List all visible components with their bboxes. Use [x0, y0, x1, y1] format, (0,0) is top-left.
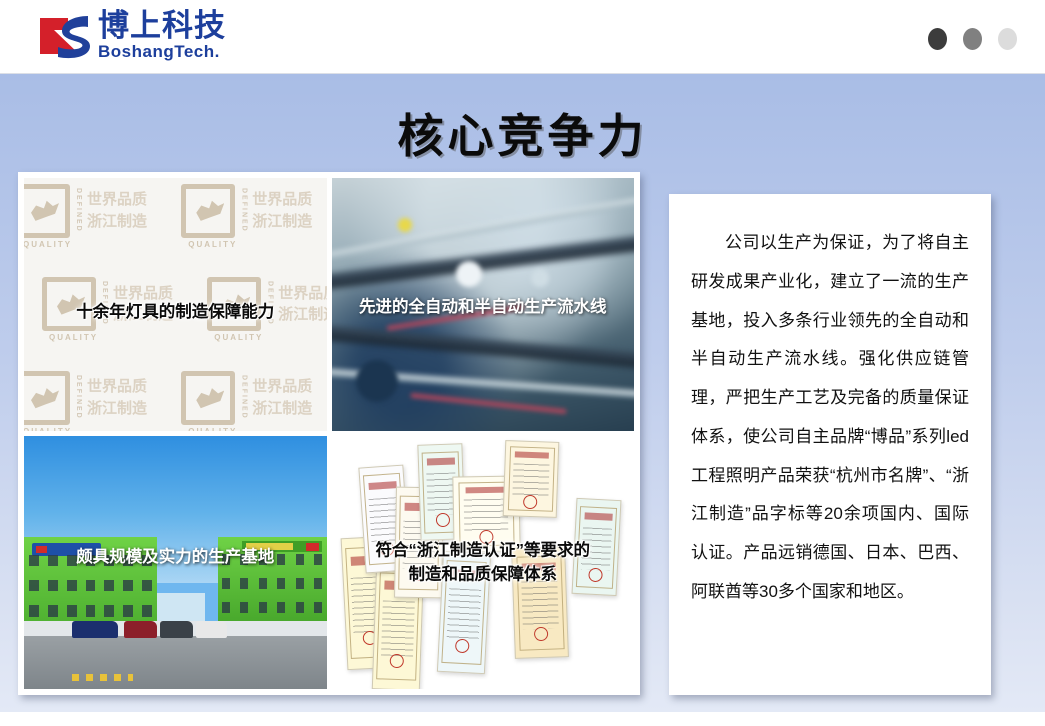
quality-badge-icon	[181, 184, 235, 238]
watermark-line1: 世界品质	[252, 378, 312, 395]
page-header: 博上科技 BoshangTech.	[0, 0, 1045, 74]
boshang-logo-mark	[38, 10, 92, 60]
collage-caption-quality-certifications: 符合“浙江制造认证”等要求的 制造和品质保障体系	[338, 538, 628, 588]
watermark-defined-text: DEFINED	[75, 188, 82, 234]
watermark-line1: 世界品质	[278, 285, 326, 302]
quality-badge-icon	[24, 371, 70, 425]
brand-logo-text: 博上科技 BoshangTech.	[98, 10, 226, 60]
pagination-dot-2[interactable]	[963, 28, 982, 50]
quality-badge-icon	[181, 371, 235, 425]
collage-caption-production-base: 颇具规模及实力的生产基地	[76, 543, 274, 567]
presentation-slide: 博上科技 BoshangTech. 核心竞争力 DEFINED世界品质浙江制造 …	[0, 0, 1045, 726]
road-ground	[24, 636, 327, 689]
watermark-line2: 浙江制造	[252, 400, 312, 417]
watermark-defined-text: DEFINED	[240, 375, 247, 421]
watermark-defined-text: DEFINED	[240, 188, 247, 234]
watermark-line2: 浙江制造	[278, 306, 326, 323]
collage-cell-manufacturing-capability[interactable]: DEFINED世界品质浙江制造 DEFINED世界品质浙江制造 DEFINED世…	[24, 178, 327, 431]
brand-name-cn: 博上科技	[98, 10, 226, 41]
crosswalk-marking	[72, 674, 133, 682]
watermark-line2: 浙江制造	[252, 213, 312, 230]
caption-line-2: 制造和品质保障体系	[338, 563, 628, 588]
caption-line-1: 符合“浙江制造认证”等要求的	[375, 541, 590, 559]
collage-grid: DEFINED世界品质浙江制造 DEFINED世界品质浙江制造 DEFINED世…	[24, 178, 634, 689]
watermark-line2: 浙江制造	[87, 400, 147, 417]
watermark-defined-text: DEFINED	[75, 375, 82, 421]
watermark-line2: 浙江制造	[87, 213, 147, 230]
collage-cell-quality-certifications[interactable]: 符合“浙江制造认证”等要求的 制造和品质保障体系	[332, 436, 635, 689]
collage-caption-manufacturing-capability: 十余年灯具的制造保障能力	[76, 298, 274, 322]
watermark-line1: 世界品质	[87, 191, 147, 208]
collage-cell-production-base[interactable]: 颇具规模及实力的生产基地	[24, 436, 327, 689]
page-title: 核心竞争力	[0, 100, 1045, 166]
watermark-line1: 世界品质	[87, 378, 147, 395]
description-paragraph: 公司以生产为保证，为了将自主研发成果产业化，建立了一流的生产基地，投入多条行业领…	[691, 224, 969, 612]
parked-car	[124, 621, 157, 639]
collage-caption-automatic-production-line: 先进的全自动和半自动生产流水线	[359, 293, 607, 317]
parked-car	[72, 621, 117, 639]
pagination-dot-3[interactable]	[998, 28, 1017, 50]
watermark-line1: 世界品质	[252, 191, 312, 208]
slide-stage: 核心竞争力 DEFINED世界品质浙江制造 DEFINED世界品质浙江制造 DE…	[0, 74, 1045, 712]
collage-cell-automatic-production-line[interactable]: 先进的全自动和半自动生产流水线	[332, 178, 635, 431]
brand-name-en: BoshangTech.	[98, 43, 226, 60]
parked-car	[160, 621, 193, 639]
parked-car	[196, 621, 226, 639]
quality-badge-icon	[24, 184, 70, 238]
image-collage-panel: DEFINED世界品质浙江制造 DEFINED世界品质浙江制造 DEFINED世…	[18, 172, 640, 695]
pagination-dots[interactable]	[928, 28, 1017, 50]
description-panel: 公司以生产为保证，为了将自主研发成果产业化，建立了一流的生产基地，投入多条行业领…	[669, 194, 991, 695]
brand-logo[interactable]: 博上科技 BoshangTech.	[38, 10, 226, 60]
certificate-item	[503, 440, 560, 518]
pagination-dot-1[interactable]	[928, 28, 947, 50]
